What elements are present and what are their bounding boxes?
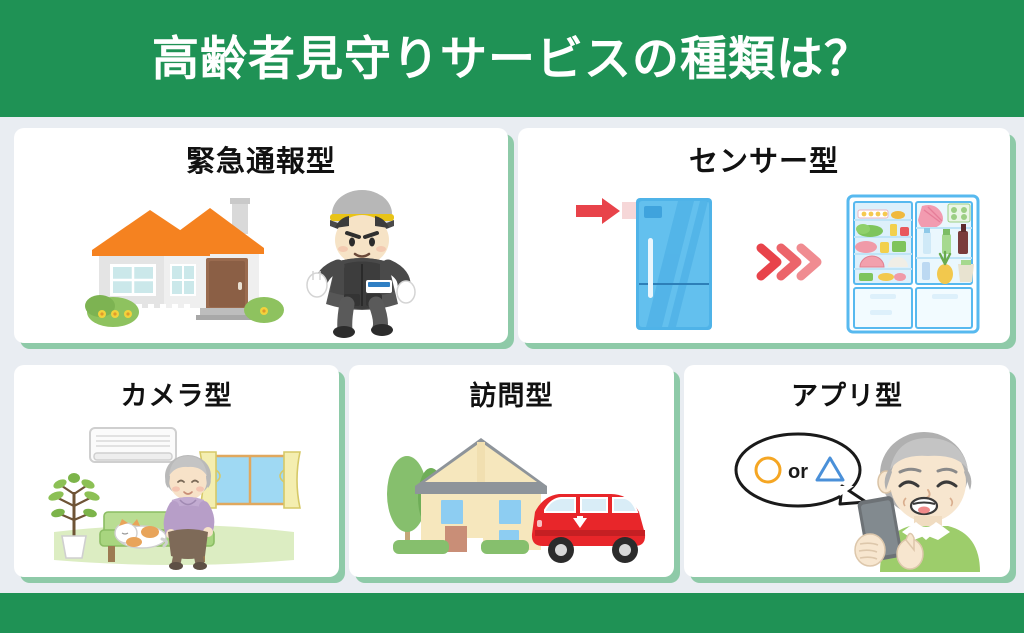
illustration-house-with-visiting-van (349, 420, 674, 572)
red-van (532, 494, 645, 563)
red-arrow-pointing-to-sensor (576, 198, 620, 224)
red-chevrons (761, 248, 817, 276)
open-refrigerator-with-food (848, 196, 978, 332)
closed-blue-refrigerator (636, 198, 712, 330)
page-title: 高齢者見守りサービスの種類は？ (152, 35, 872, 82)
window-with-yellow-curtains (200, 452, 300, 508)
security-guard-running (307, 190, 415, 338)
card-camera[interactable]: カメラ型 (14, 365, 339, 577)
card-title-emergency: 緊急通報型 (14, 148, 508, 177)
illustration-elderly-man-with-smartphone: or (684, 420, 1010, 572)
card-emergency[interactable]: 緊急通報型 (14, 128, 508, 343)
card-title-sensor: センサー型 (518, 148, 1010, 177)
illustration-living-room-with-elderly-woman (14, 420, 339, 572)
card-sensor[interactable]: センサー型 (518, 128, 1010, 343)
card-visit[interactable]: 訪問型 (349, 365, 674, 577)
footer-bar (0, 593, 1024, 633)
cream-house-with-grey-roof (415, 438, 547, 552)
card-app[interactable]: アプリ型 or (684, 365, 1010, 577)
illustration-house-with-security-guard (14, 188, 508, 338)
card-title-app: アプリ型 (684, 383, 1010, 410)
elderly-man (855, 432, 980, 572)
header-bar: 高齢者見守りサービスの種類は？ (0, 0, 1024, 117)
or-text: or (788, 461, 808, 483)
infographic-page: 高齢者見守りサービスの種類は？ 緊急通報型 (0, 0, 1024, 633)
air-conditioner (90, 428, 176, 462)
card-title-visit: 訪問型 (349, 383, 674, 410)
house-with-orange-roof (85, 198, 284, 327)
speech-bubble: or (736, 434, 866, 506)
illustration-refrigerator-sensor (518, 188, 1010, 338)
card-title-camera: カメラ型 (14, 383, 339, 410)
